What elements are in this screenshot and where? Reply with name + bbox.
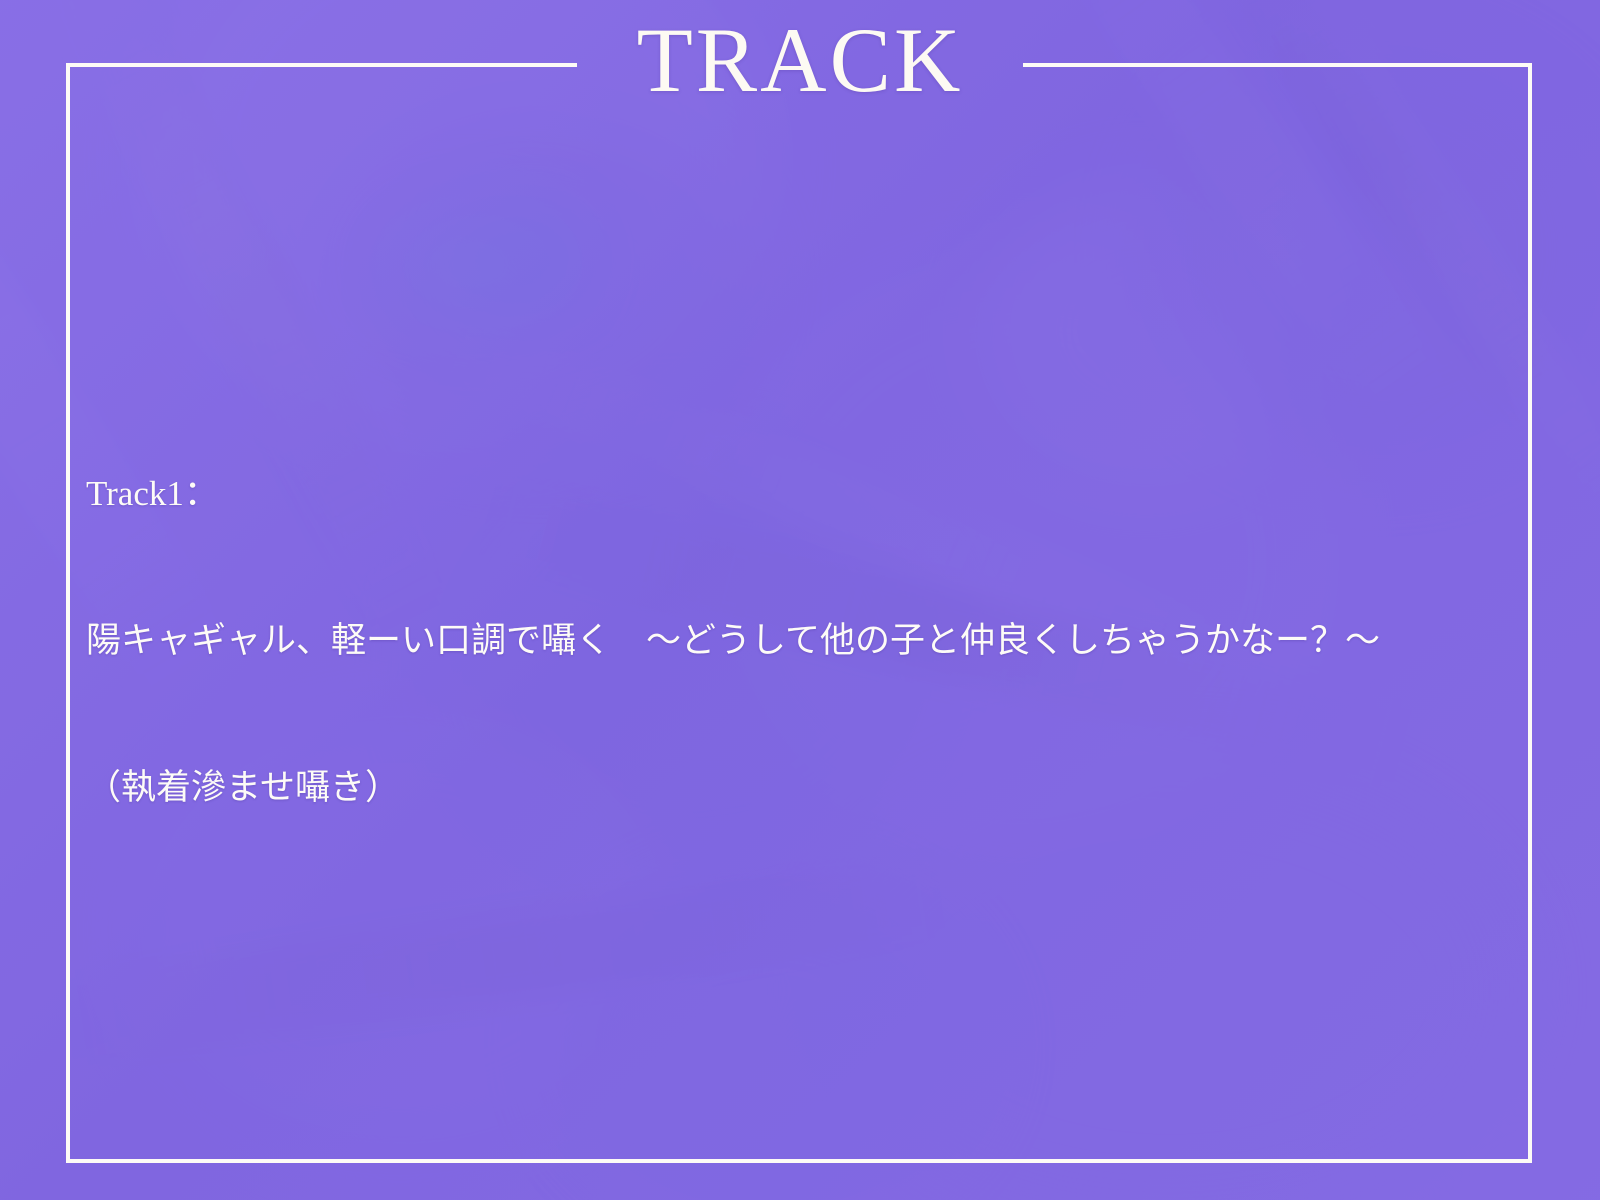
track-heading: Track1： 陽キャギャル、軽ーい口調で囁く ～どうして他の子と仲良くしちゃう… [86, 371, 1506, 910]
track-list: Track1： 陽キャギャル、軽ーい口調で囁く ～どうして他の子と仲良くしちゃう… [86, 126, 1506, 1200]
frame-top-rule [66, 63, 577, 67]
spacer [86, 1008, 1506, 1057]
track-title: 陽キャギャル、軽ーい口調で囁く ～どうして他の子と仲良くしちゃうかなー？～ [86, 616, 1506, 665]
page-title: TRACK [0, 8, 1600, 112]
track-item: Track1： 陽キャギャル、軽ーい口調で囁く ～どうして他の子と仲良くしちゃう… [86, 273, 1506, 1200]
track-label: Track1： [86, 469, 1506, 518]
track-subtitle: （執着滲ませ囁き） [86, 763, 1506, 812]
slide-canvas: TRACK Track1： 陽キャギャル、軽ーい口調で囁く ～どうして他の子と仲… [0, 0, 1600, 1200]
track-description: 帰宅しようとしたあなたを呼び止めた真央。 昼間少し喋っただけの女の子のことを咎め… [86, 1155, 1506, 1200]
frame-top-rule [1023, 63, 1532, 67]
